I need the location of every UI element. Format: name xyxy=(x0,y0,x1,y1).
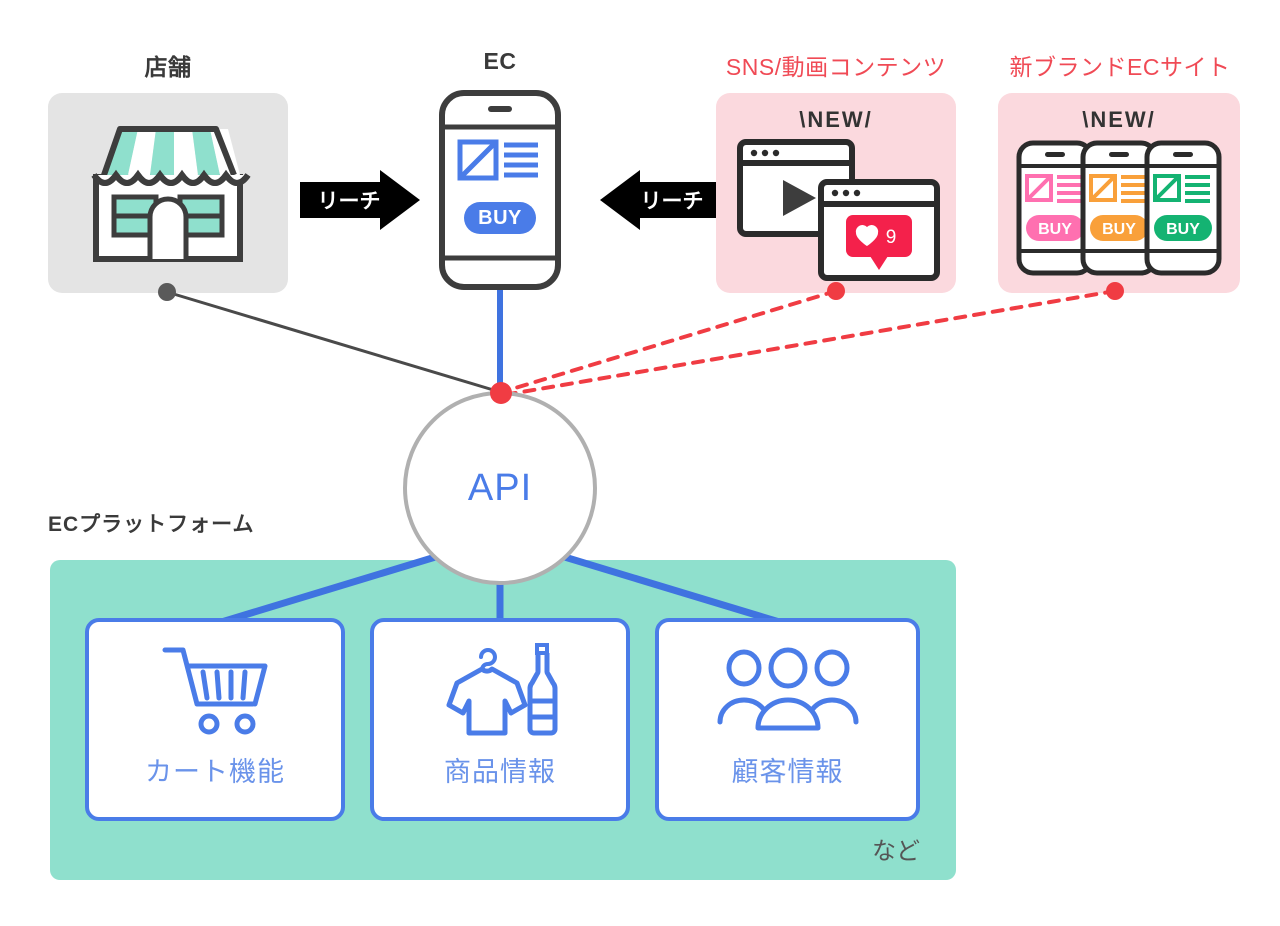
connector-dot-api-junction xyxy=(480,372,522,414)
connector-dot-sns xyxy=(827,282,845,300)
feature-label-product: 商品情報 xyxy=(444,750,556,789)
customers-people-icon xyxy=(718,640,858,740)
product-shirt-bottle-icon xyxy=(441,640,559,740)
connector-dot-store xyxy=(158,283,176,301)
feature-card-customer[interactable]: 顧客情報 xyxy=(655,618,920,821)
shopping-cart-icon xyxy=(161,640,269,740)
wire-sns-to-api xyxy=(502,291,836,392)
feature-card-cart[interactable]: カート機能 xyxy=(85,618,345,821)
feature-label-customer: 顧客情報 xyxy=(732,750,844,789)
ec-phone[interactable]: BUY xyxy=(438,90,562,290)
feature-label-cart: カート機能 xyxy=(145,750,285,789)
reach-arrow-left-label: リーチ xyxy=(318,185,381,215)
wire-newbrand-to-api xyxy=(504,291,1115,395)
smartphone-icon xyxy=(438,90,562,290)
api-node[interactable]: API xyxy=(403,391,597,585)
reach-arrow-right-label: リーチ xyxy=(641,185,704,215)
buy-button-ec[interactable]: BUY xyxy=(464,202,536,234)
wire-api-to-cart xyxy=(215,555,442,624)
api-label: API xyxy=(468,467,532,510)
connector-dot-newbrand xyxy=(1106,282,1124,300)
diagram-canvas: 店舗 EC SNS/動画コンテンツ 新ブランドECサイト xyxy=(0,0,1280,926)
wire-store-to-api xyxy=(167,292,500,392)
feature-card-product[interactable]: 商品情報 xyxy=(370,618,630,821)
wire-api-to-customer xyxy=(558,555,786,624)
